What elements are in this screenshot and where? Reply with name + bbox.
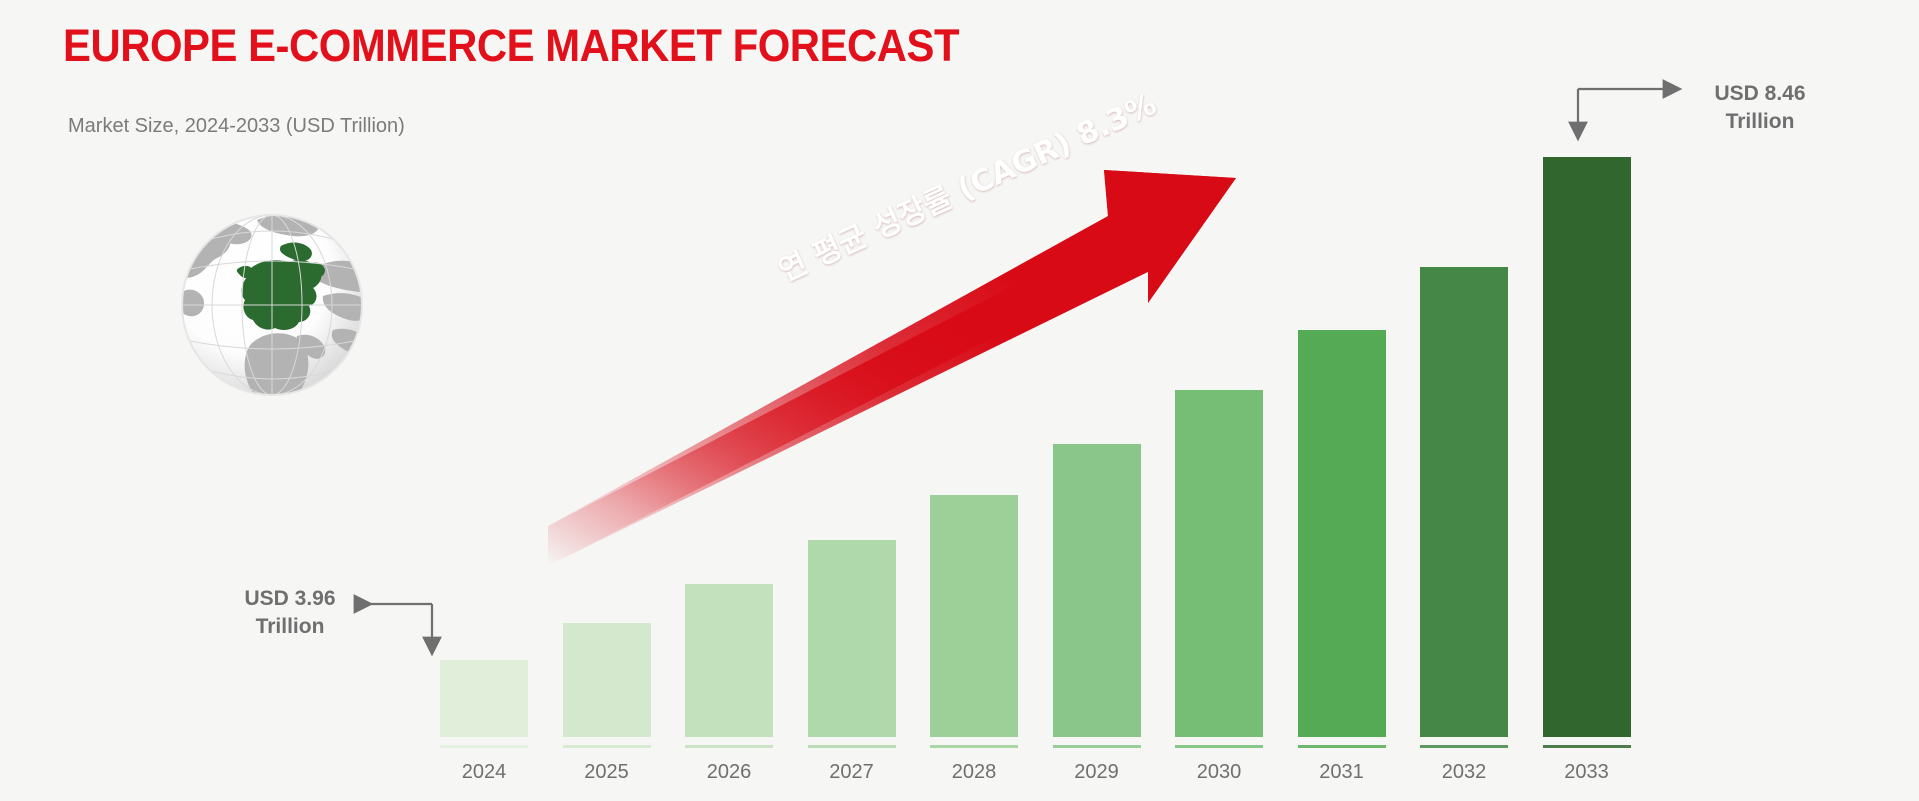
x-axis-label-2024: 2024 [424, 761, 544, 784]
bar-2033 [1543, 157, 1631, 737]
bar-reflection [1175, 745, 1263, 748]
annotation-first-line1: USD 3.96 [225, 585, 355, 613]
bar-reflection [563, 745, 651, 748]
bar-reflection [1420, 745, 1508, 748]
chart-canvas: EUROPE E-COMMERCE MARKET FORECAST Market… [0, 0, 1919, 801]
bar-reflection [440, 745, 528, 748]
annotation-last-value: USD 8.46 Trillion [1695, 80, 1825, 135]
bar-column [930, 495, 1018, 737]
bar-column [1175, 390, 1263, 738]
x-axis-label-2029: 2029 [1037, 761, 1157, 784]
bar-reflection [930, 745, 1018, 748]
x-axis-label-2032: 2032 [1404, 761, 1524, 784]
bar-2027 [808, 540, 896, 737]
bar-column [563, 623, 651, 737]
x-axis-label-2031: 2031 [1282, 761, 1402, 784]
annotation-last-line2: Trillion [1695, 108, 1825, 136]
bar-reflection [1053, 745, 1141, 748]
bar-2026 [685, 584, 773, 737]
bar-2031 [1298, 330, 1386, 737]
bar-reflection [808, 745, 896, 748]
annotation-first-value: USD 3.96 Trillion [225, 585, 355, 640]
annotation-first-arrow [340, 590, 470, 740]
bar-column [1543, 157, 1631, 737]
x-axis-label-2026: 2026 [669, 761, 789, 784]
bar-reflection [1298, 745, 1386, 748]
x-axis-label-2027: 2027 [792, 761, 912, 784]
bar-2032 [1420, 267, 1508, 737]
annotation-last-line1: USD 8.46 [1695, 80, 1825, 108]
bar-2029 [1053, 444, 1141, 737]
x-axis-label-2025: 2025 [547, 761, 667, 784]
bar-2030 [1175, 390, 1263, 738]
bar-reflection [685, 745, 773, 748]
bar-column [685, 584, 773, 737]
x-axis-label-2033: 2033 [1527, 761, 1647, 784]
bar-column [1420, 267, 1508, 737]
bar-2028 [930, 495, 1018, 737]
annotation-last-arrow [1560, 75, 1710, 165]
bar-column [1298, 330, 1386, 737]
bar-column [1053, 444, 1141, 737]
x-axis-label-2028: 2028 [914, 761, 1034, 784]
bar-2025 [563, 623, 651, 737]
x-axis-label-2030: 2030 [1159, 761, 1279, 784]
bar-reflection [1543, 745, 1631, 748]
annotation-first-line2: Trillion [225, 613, 355, 641]
bar-column [808, 540, 896, 737]
